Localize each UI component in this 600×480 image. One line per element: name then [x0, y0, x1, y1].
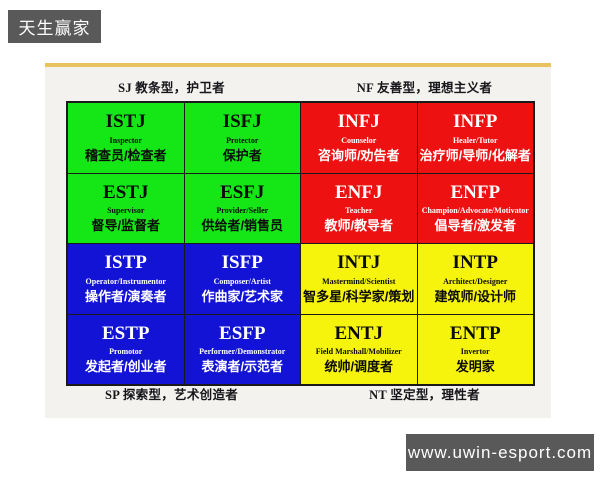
- mbti-cell-infj[interactable]: INFJCounselor咨询师/劝告者: [301, 103, 417, 173]
- mbti-code: ENFP: [450, 183, 500, 203]
- mbti-english-name: Operator/Instrumentor: [86, 277, 166, 287]
- watermark-bottom-right: www.uwin-esport.com: [406, 434, 594, 471]
- mbti-code: ENTP: [450, 324, 501, 344]
- mbti-english-name: Performer/Demonstrator: [199, 347, 285, 357]
- mbti-cell-estp[interactable]: ESTPPromotor发起者/创业者: [68, 315, 184, 385]
- mbti-cell-isfj[interactable]: ISFJProtector保护者: [185, 103, 301, 173]
- mbti-code: ESTJ: [103, 183, 148, 203]
- mbti-chinese-name: 作曲家/艺术家: [201, 290, 283, 305]
- mbti-chinese-name: 稽查员/检查者: [85, 149, 167, 164]
- mbti-cell-istj[interactable]: ISTJInspector稽查员/检查者: [68, 103, 184, 173]
- mbti-code: INTP: [453, 253, 498, 273]
- quadrant-footer-nt: NT 坚定型，理性者: [298, 384, 551, 403]
- mbti-cell-entj[interactable]: ENTJField Marshall/Mobilizer统帅/调度者: [301, 315, 417, 385]
- mbti-chinese-name: 智多星/科学家/策划: [303, 290, 414, 305]
- mbti-code: ESFJ: [220, 183, 264, 203]
- chart-inner: SJ 教条型，护卫者 NF 友善型，理想主义者 ISTJInspector稽查员…: [45, 67, 551, 418]
- mbti-chinese-name: 倡导者/激发者: [434, 219, 516, 234]
- mbti-cell-isfp[interactable]: ISFPComposer/Artist作曲家/艺术家: [185, 244, 301, 314]
- mbti-chinese-name: 统帅/调度者: [324, 360, 393, 375]
- mbti-cell-intp[interactable]: INTPArchitect/Designer建筑师/设计师: [418, 244, 534, 314]
- mbti-english-name: Counselor: [341, 136, 376, 146]
- mbti-cell-intj[interactable]: INTJMastermind/Scientist智多星/科学家/策划: [301, 244, 417, 314]
- mbti-english-name: Teacher: [345, 206, 372, 216]
- mbti-code: ISTJ: [106, 112, 146, 132]
- mbti-code: ENFJ: [335, 183, 383, 203]
- quadrant-footer-row: SP 探索型，艺术创造者 NT 坚定型，理性者: [45, 380, 551, 406]
- mbti-code: ESTP: [102, 324, 150, 344]
- mbti-cell-enfj[interactable]: ENFJTeacher教师/教导者: [301, 174, 417, 244]
- mbti-chinese-name: 发起者/创业者: [85, 360, 167, 375]
- quadrant-footer-sp: SP 探索型，艺术创造者: [45, 384, 298, 403]
- mbti-cell-esfj[interactable]: ESFJProvider/Seller供给者/销售员: [185, 174, 301, 244]
- mbti-chinese-name: 发明家: [456, 360, 495, 375]
- mbti-english-name: Mastermind/Scientist: [322, 277, 395, 287]
- mbti-english-name: Architect/Designer: [443, 277, 507, 287]
- mbti-english-name: Promotor: [109, 347, 142, 357]
- mbti-code: ENTJ: [334, 324, 383, 344]
- mbti-chinese-name: 操作者/演奏者: [85, 290, 167, 305]
- mbti-english-name: Invertor: [461, 347, 490, 357]
- mbti-type-grid: ISTJInspector稽查员/检查者ISFJProtector保护者INFJ…: [66, 101, 535, 386]
- mbti-chinese-name: 咨询师/劝告者: [318, 149, 400, 164]
- mbti-english-name: Inspector: [110, 136, 142, 146]
- mbti-cell-enfp[interactable]: ENFPChampion/Advocate/Motivator倡导者/激发者: [418, 174, 534, 244]
- mbti-cell-entp[interactable]: ENTPInvertor发明家: [418, 315, 534, 385]
- quadrant-header-sj: SJ 教条型，护卫者: [45, 77, 298, 96]
- mbti-cell-estj[interactable]: ESTJSupervisor督导/监督者: [68, 174, 184, 244]
- mbti-cell-infp[interactable]: INFPHealer/Tutor治疗师/导师/化解者: [418, 103, 534, 173]
- mbti-chinese-name: 督导/监督者: [91, 219, 160, 234]
- mbti-chinese-name: 教师/教导者: [324, 219, 393, 234]
- mbti-chinese-name: 表演者/示范者: [201, 360, 283, 375]
- mbti-code: INFP: [453, 112, 497, 132]
- mbti-chinese-name: 建筑师/设计师: [434, 290, 516, 305]
- mbti-code: ISFP: [222, 253, 263, 273]
- mbti-english-name: Healer/Tutor: [453, 136, 498, 146]
- mbti-english-name: Champion/Advocate/Motivator: [422, 206, 529, 216]
- mbti-code: INTJ: [337, 253, 380, 273]
- mbti-chinese-name: 治疗师/导师/化解者: [420, 149, 531, 164]
- mbti-code: ISFJ: [223, 112, 262, 132]
- mbti-code: ESFP: [219, 324, 265, 344]
- mbti-code: INFJ: [338, 112, 380, 132]
- mbti-cell-esfp[interactable]: ESFPPerformer/Demonstrator表演者/示范者: [185, 315, 301, 385]
- mbti-chinese-name: 供给者/销售员: [201, 219, 283, 234]
- mbti-code: ISTP: [105, 253, 147, 273]
- watermark-top-left: 天生赢家: [8, 10, 101, 43]
- mbti-chart-panel: SJ 教条型，护卫者 NF 友善型，理想主义者 ISTJInspector稽查员…: [45, 63, 551, 418]
- mbti-english-name: Supervisor: [107, 206, 144, 216]
- quadrant-header-nf: NF 友善型，理想主义者: [298, 77, 551, 96]
- mbti-cell-istp[interactable]: ISTPOperator/Instrumentor操作者/演奏者: [68, 244, 184, 314]
- mbti-english-name: Field Marshall/Mobilizer: [316, 347, 402, 357]
- mbti-chinese-name: 保护者: [223, 149, 262, 164]
- mbti-english-name: Protector: [226, 136, 258, 146]
- mbti-english-name: Provider/Seller: [216, 206, 268, 216]
- mbti-english-name: Composer/Artist: [214, 277, 271, 287]
- quadrant-header-row: SJ 教条型，护卫者 NF 友善型，理想主义者: [45, 73, 551, 99]
